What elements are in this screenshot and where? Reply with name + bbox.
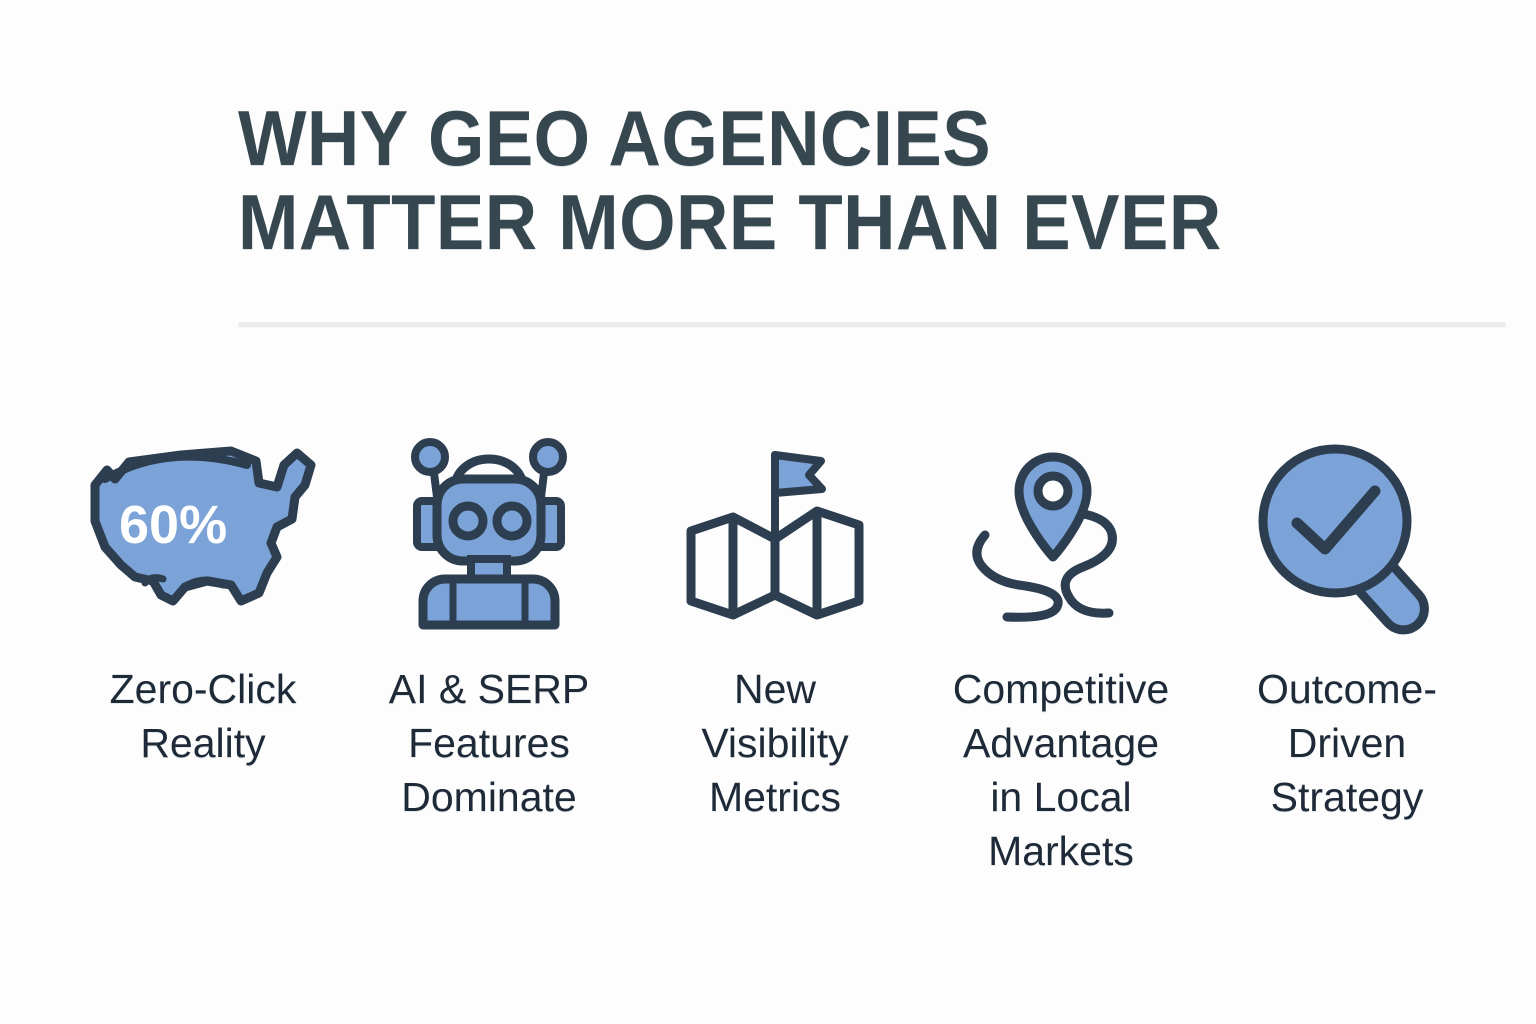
feature-column-outcome[interactable]: Outcome- Driven Strategy bbox=[1204, 430, 1490, 824]
feature-label: Zero-Click Reality bbox=[110, 662, 297, 770]
feature-column-ai-serp[interactable]: AI & SERP Features Dominate bbox=[346, 430, 632, 824]
feature-label: Outcome- Driven Strategy bbox=[1257, 662, 1437, 824]
feature-column-zero-click[interactable]: 60% Zero-Click Reality bbox=[60, 430, 346, 770]
header: WHY GEO AGENCIES MATTER MORE THAN EVER bbox=[238, 96, 1508, 264]
magnifier-check-icon bbox=[1204, 430, 1490, 640]
stat-percent-value: 60% bbox=[119, 495, 227, 555]
feature-column-visibility[interactable]: New Visibility Metrics bbox=[632, 430, 918, 824]
us-map-icon: 60% bbox=[60, 430, 346, 640]
infographic-poster: WHY GEO AGENCIES MATTER MORE THAN EVER 6… bbox=[0, 0, 1536, 1024]
title-divider bbox=[238, 322, 1506, 327]
location-pin-route-icon bbox=[918, 430, 1204, 640]
folded-map-flag-icon bbox=[632, 430, 918, 640]
feature-label: New Visibility Metrics bbox=[701, 662, 848, 824]
feature-label: Competitive Advantage in Local Markets bbox=[953, 662, 1169, 878]
feature-label: AI & SERP Features Dominate bbox=[389, 662, 590, 824]
robot-icon bbox=[346, 430, 632, 640]
feature-columns: 60% Zero-Click Reality bbox=[60, 430, 1490, 878]
feature-column-competitive[interactable]: Competitive Advantage in Local Markets bbox=[918, 430, 1204, 878]
page-title: WHY GEO AGENCIES MATTER MORE THAN EVER bbox=[238, 96, 1419, 264]
